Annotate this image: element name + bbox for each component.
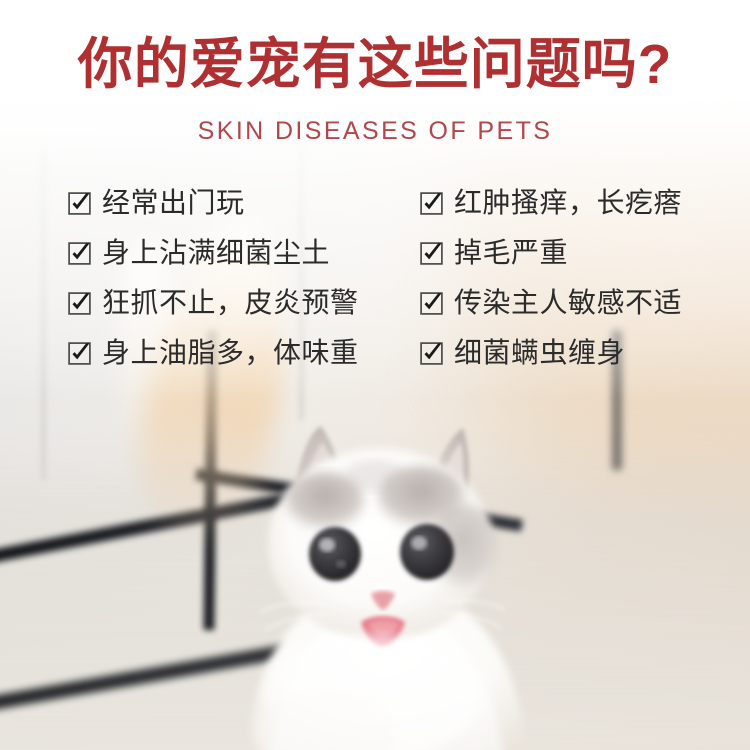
checked-checkbox-icon [420,192,443,215]
checklist-item-label: 经常出门玩 [102,189,245,217]
checklist-item: 经常出门玩 [68,189,420,217]
checked-checkbox-icon [68,342,91,365]
checklist-item-label: 身上沾满细菌尘土 [102,239,330,267]
checklist-item: 身上沾满细菌尘土 [68,239,420,267]
checklist-item: 狂抓不止，皮炎预警 [68,289,420,317]
checklist-item: 传染主人敏感不适 [420,289,728,317]
checklist-item: 身上油脂多，体味重 [68,339,420,367]
checked-checkbox-icon [420,292,443,315]
page-subtitle: SKIN DISEASES OF PETS [0,117,750,146]
checked-checkbox-icon [68,292,91,315]
page-title: 你的爱宠有这些问题吗? [0,36,750,94]
checklist-item: 红肿搔痒，长疙瘩 [420,189,728,217]
checked-checkbox-icon [68,242,91,265]
checklist-item-label: 传染主人敏感不适 [454,289,682,317]
symptom-checklist: 经常出门玩 红肿搔痒，长疙瘩 身 [68,178,728,378]
poster-content: 你的爱宠有这些问题吗? SKIN DISEASES OF PETS 经常出门玩 [0,0,750,750]
checked-checkbox-icon [68,192,91,215]
checklist-item-label: 红肿搔痒，长疙瘩 [454,189,682,217]
checklist-item-label: 细菌螨虫缠身 [454,339,625,367]
checklist-item-label: 狂抓不止，皮炎预警 [102,289,359,317]
promo-poster: 你的爱宠有这些问题吗? SKIN DISEASES OF PETS 经常出门玩 [0,0,750,750]
checklist-item-label: 身上油脂多，体味重 [102,339,359,367]
checklist-item: 细菌螨虫缠身 [420,339,728,367]
checklist-item-label: 掉毛严重 [454,239,568,267]
checked-checkbox-icon [420,342,443,365]
checklist-item: 掉毛严重 [420,239,728,267]
checked-checkbox-icon [420,242,443,265]
